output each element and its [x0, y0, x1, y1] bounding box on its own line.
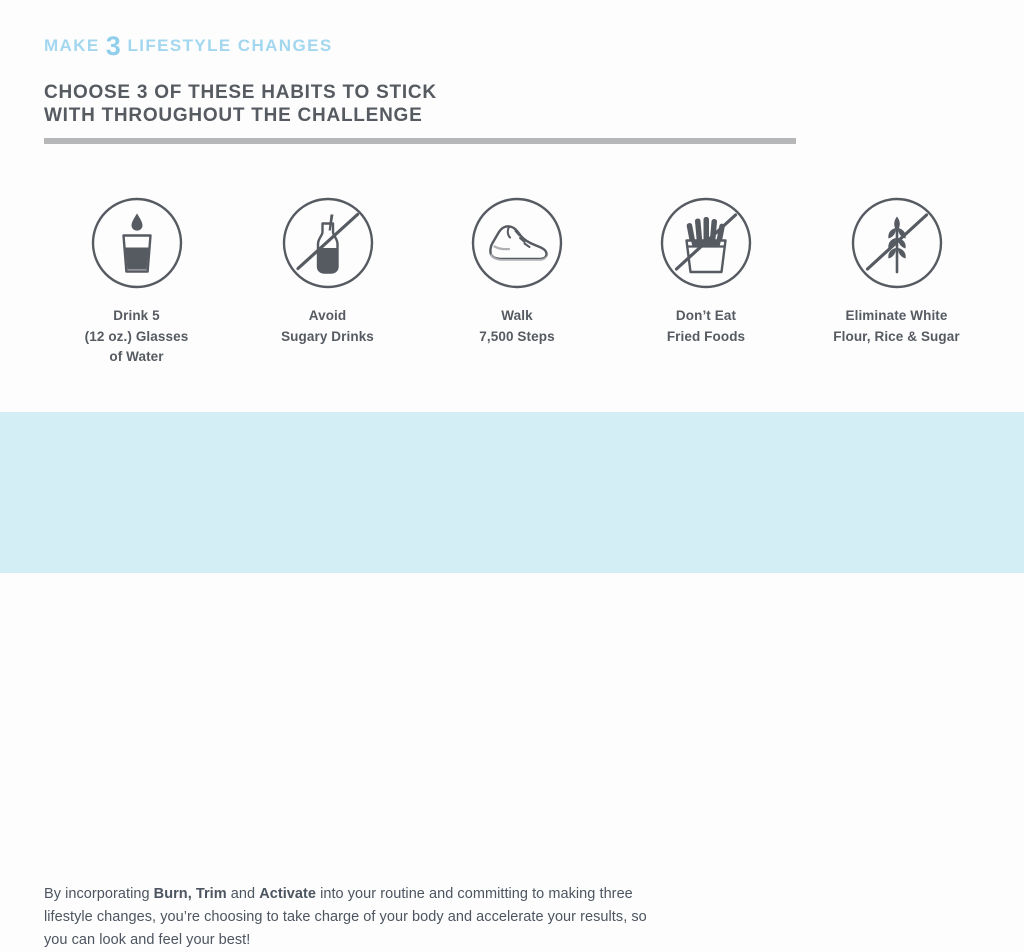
no-sugary-drink-icon	[281, 196, 375, 290]
kicker-post-text: LIFESTYLE CHANGES	[127, 36, 332, 55]
footer-bold-burn-trim: Burn, Trim	[154, 886, 227, 902]
footer-band: By incorporating Burn, Trim and Activate…	[0, 412, 1024, 573]
no-wheat-icon	[850, 196, 944, 290]
no-fried-food-icon	[659, 196, 753, 290]
footer-text-part1: By incorporating	[44, 886, 154, 902]
kicker-heading: MAKE 3 LIFESTYLE CHANGES	[44, 33, 333, 61]
habit-item-walk[interactable]: Walk 7,500 Steps	[423, 196, 611, 347]
habit-item-no-sugary-drinks[interactable]: Avoid Sugary Drinks	[232, 196, 423, 347]
footer-bold-activate: Activate	[259, 886, 316, 902]
habits-row: Drink 5 (12 oz.) Glasses of Water Avoid …	[0, 196, 1024, 368]
habit-label: Avoid Sugary Drinks	[281, 306, 374, 347]
footer-paragraph: By incorporating Burn, Trim and Activate…	[44, 883, 654, 952]
habit-label: Eliminate White Flour, Rice & Sugar	[833, 306, 959, 347]
divider-bar	[44, 138, 796, 144]
footer-text-part2: and	[227, 886, 260, 902]
sneaker-icon	[470, 196, 564, 290]
habit-item-no-fried-foods[interactable]: Don’t Eat Fried Foods	[611, 196, 801, 347]
kicker-pre-text: MAKE	[44, 36, 100, 55]
habit-label: Walk 7,500 Steps	[479, 306, 554, 347]
page-title: CHOOSE 3 OF THESE HABITS TO STICK WITH T…	[44, 81, 437, 127]
kicker-number: 3	[106, 31, 122, 61]
habit-label: Don’t Eat Fried Foods	[667, 306, 745, 347]
habit-item-water[interactable]: Drink 5 (12 oz.) Glasses of Water	[41, 196, 232, 368]
slide-canvas: MAKE 3 LIFESTYLE CHANGES CHOOSE 3 OF THE…	[0, 0, 1024, 573]
habit-label: Drink 5 (12 oz.) Glasses of Water	[85, 306, 189, 368]
water-glass-icon	[90, 196, 184, 290]
habit-item-no-white-flour[interactable]: Eliminate White Flour, Rice & Sugar	[801, 196, 992, 347]
